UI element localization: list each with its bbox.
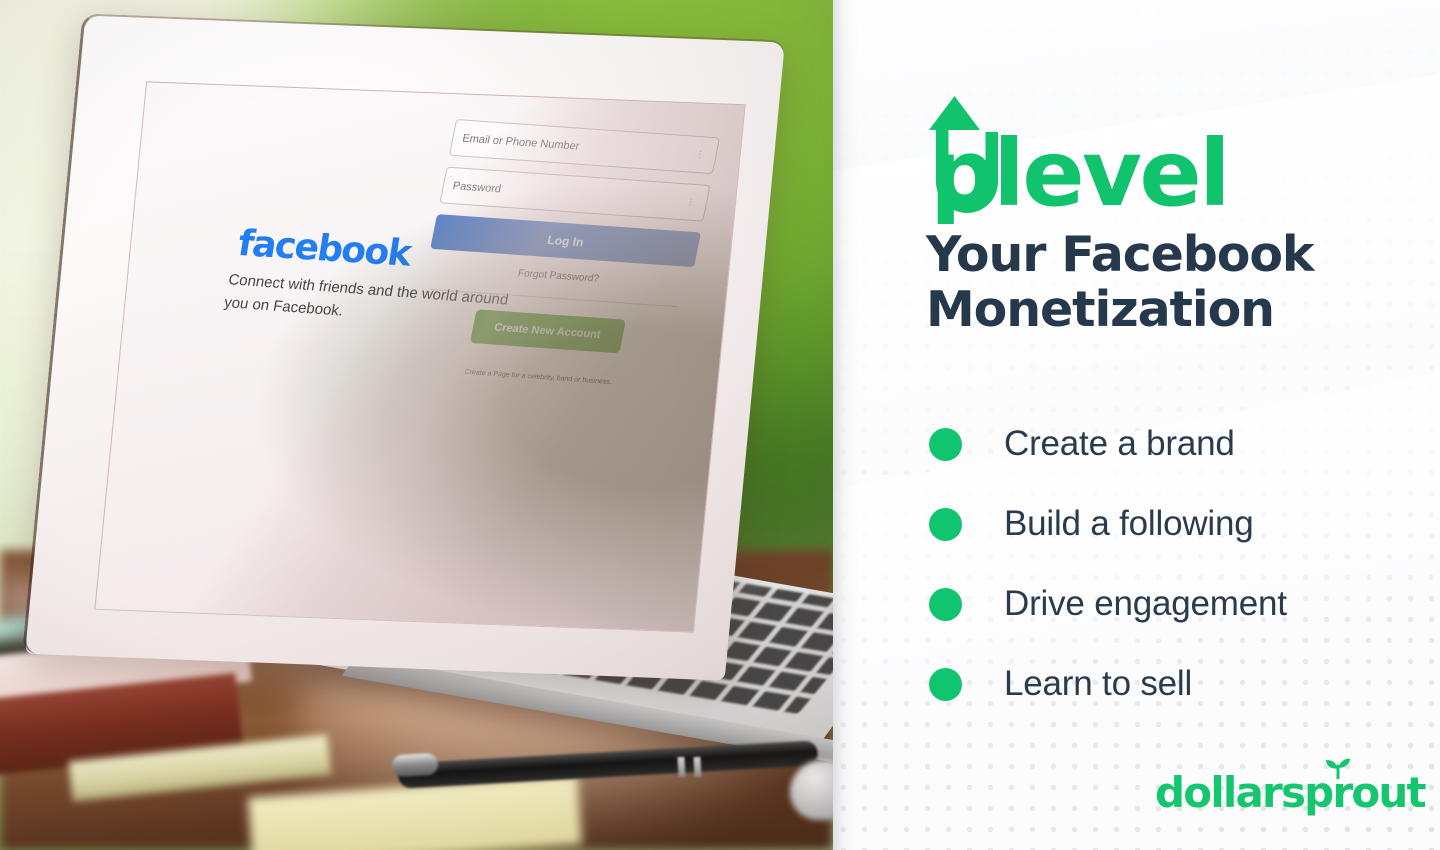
- facebook-login-form: Email or Phone Number ⋮ Password ⋮ Log I…: [406, 119, 721, 390]
- pen-cap: [391, 753, 438, 778]
- dollarsprout-logo[interactable]: dollarsprout: [1155, 768, 1425, 817]
- content-panel: plevel Your Facebook Monetization Create…: [833, 0, 1440, 850]
- headline-line-3: Monetization: [926, 283, 1440, 338]
- benefit-list: Create a brand Build a following Drive e…: [929, 404, 1429, 724]
- promo-graphic: facebook Connect with friends and the wo…: [0, 0, 1440, 850]
- dollarsprout-wordmark: dollarsprout: [1155, 768, 1425, 817]
- headline-line-2: Your Facebook: [926, 228, 1440, 283]
- facebook-login-page: facebook Connect with friends and the wo…: [98, 85, 742, 628]
- laptop-screen: facebook Connect with friends and the wo…: [94, 81, 745, 632]
- sprout-leaf-icon: [1323, 757, 1353, 779]
- list-item: Build a following: [929, 484, 1429, 564]
- list-item: Learn to sell: [929, 644, 1429, 724]
- login-button[interactable]: Log In: [430, 214, 701, 267]
- form-divider: [430, 289, 678, 307]
- pen-ring: [693, 757, 701, 777]
- headline-uplevel: plevel: [930, 128, 1228, 220]
- laptop-photo: facebook Connect with friends and the wo…: [0, 0, 833, 850]
- panel-content: plevel Your Facebook Monetization Create…: [833, 0, 1440, 850]
- field-decor-icon: ⋮: [694, 149, 707, 161]
- list-item-label: Create a brand: [1004, 424, 1235, 464]
- facebook-logo: facebook: [235, 223, 413, 275]
- list-item-label: Learn to sell: [1004, 664, 1192, 704]
- forgot-password-link[interactable]: Forgot Password?: [425, 262, 691, 291]
- bullet-dot-icon: [929, 588, 962, 621]
- list-item: Drive engagement: [929, 564, 1429, 644]
- list-item-label: Build a following: [1004, 504, 1254, 544]
- bullet-dot-icon: [929, 668, 962, 701]
- create-page-text: Create a Page for a celebrity, band or b…: [406, 365, 671, 390]
- password-field[interactable]: Password ⋮: [439, 167, 710, 222]
- create-account-button[interactable]: Create New Account: [469, 309, 625, 353]
- bullet-dot-icon: [929, 508, 962, 541]
- bullet-dot-icon: [929, 428, 962, 461]
- email-field[interactable]: Email or Phone Number ⋮: [449, 119, 720, 174]
- field-decor-icon: ⋮: [685, 196, 698, 208]
- email-field-placeholder: Email or Phone Number: [461, 132, 580, 152]
- list-item: Create a brand: [929, 404, 1429, 484]
- headline-subtitle: Your Facebook Monetization: [926, 228, 1440, 338]
- pen-ring: [677, 757, 685, 777]
- password-field-placeholder: Password: [452, 180, 502, 195]
- list-item-label: Drive engagement: [1004, 584, 1287, 624]
